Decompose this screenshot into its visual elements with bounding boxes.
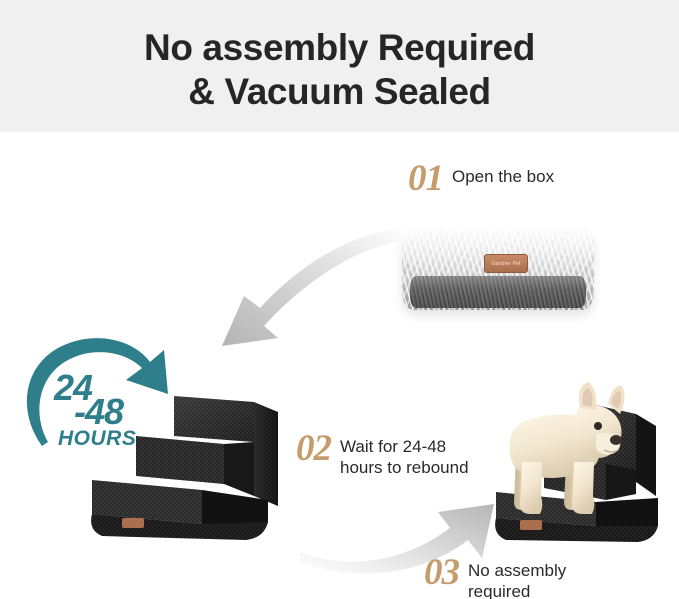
step-03: 03 No assembly required xyxy=(424,556,566,599)
package-brand-tag: Gardner Pet xyxy=(484,254,528,273)
package-dark-contents xyxy=(410,276,586,308)
header-band: No assembly Required & Vacuum Sealed xyxy=(0,0,679,132)
step-01: 01 Open the box xyxy=(408,162,554,196)
arrow-box-to-stairs-icon xyxy=(178,222,408,352)
vacuum-sealed-package-image: Gardner Pet xyxy=(396,214,600,324)
page-title-line-1: No assembly Required xyxy=(0,26,679,70)
step-03-number: 03 xyxy=(424,556,468,590)
page-title-line-2: & Vacuum Sealed xyxy=(0,70,679,114)
step-01-label: Open the box xyxy=(452,162,554,187)
infographic-page: No assembly Required & Vacuum Sealed 01 … xyxy=(0,0,679,599)
step-03-label: No assembly required xyxy=(468,556,566,599)
stairs-left-brand-tag xyxy=(122,518,144,528)
page-title: No assembly Required & Vacuum Sealed xyxy=(0,26,679,114)
step-02-label: Wait for 24-48 hours to rebound xyxy=(340,432,469,478)
step-02-number: 02 xyxy=(296,432,340,466)
package-brand-tag-text: Gardner Pet xyxy=(491,261,520,267)
french-bulldog-image xyxy=(492,378,628,526)
step-02: 02 Wait for 24-48 hours to rebound xyxy=(296,432,469,478)
step-01-number: 01 xyxy=(408,162,452,196)
pet-stairs-left-image xyxy=(78,388,294,546)
